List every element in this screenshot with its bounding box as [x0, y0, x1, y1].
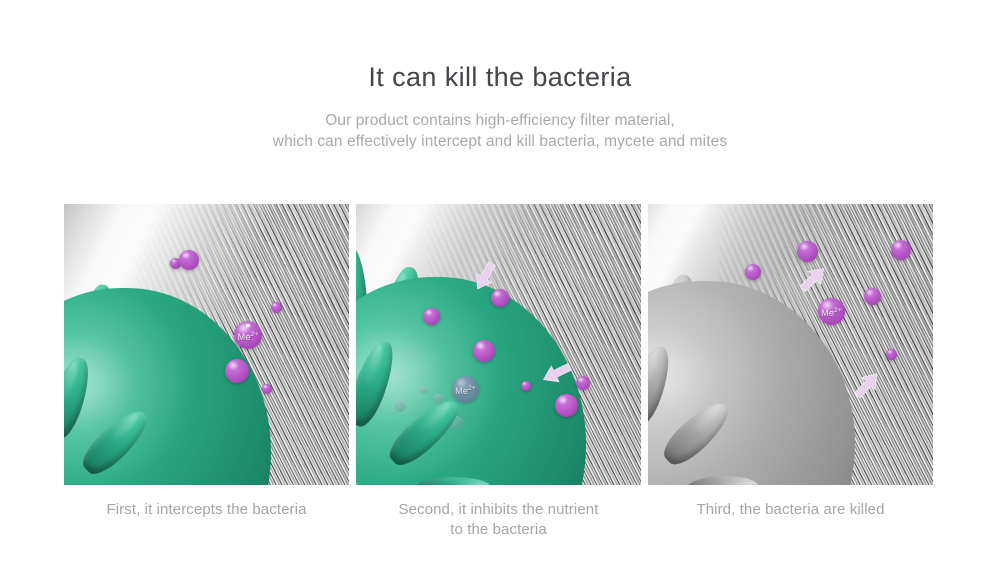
caption-inhibit: Second, it inhibits the nutrient to the …: [356, 500, 641, 560]
metal-ion-sphere: [864, 288, 881, 305]
metal-ion-sphere: [576, 376, 590, 390]
metal-ion-sphere: [262, 384, 272, 394]
metal-ion-sphere-absorbed: Me2+: [452, 376, 479, 403]
metal-ion-sphere: [886, 349, 897, 360]
caption-killed: Third, the bacteria are killed: [648, 500, 933, 560]
page-title: It can kill the bacteria: [0, 0, 1000, 93]
flow-arrow-outward: [850, 368, 884, 402]
flow-arrow-inward: [468, 259, 502, 293]
metal-ion-sphere: [521, 381, 531, 391]
caption-line-1: Third, the bacteria are killed: [648, 500, 933, 520]
metal-ion-sphere: [423, 308, 440, 325]
bacteria-organism-dead: [648, 221, 876, 485]
panel-intercept: Me2+: [64, 204, 349, 485]
panel-killed: Me2+: [648, 204, 933, 485]
header-block: It can kill the bacteria Our product con…: [0, 0, 1000, 153]
subtitle-line-1: Our product contains high-efficiency fil…: [0, 111, 1000, 132]
scene-killed: Me2+: [648, 204, 933, 485]
page-subtitle: Our product contains high-efficiency fil…: [0, 93, 1000, 153]
metal-ion-sphere-labeled: Me2+: [818, 298, 845, 325]
scene-inhibit: Me2+: [356, 204, 641, 485]
flow-arrow-outward: [796, 262, 830, 296]
metal-ion-sphere: [225, 359, 249, 383]
panel-inhibit: Me2+: [356, 204, 641, 485]
metal-ion-sphere: [891, 240, 911, 260]
caption-line-1: Second, it inhibits the nutrient: [356, 500, 641, 520]
caption-row: First, it intercepts the bacteria Second…: [64, 500, 934, 560]
scene-intercept: Me2+: [64, 204, 349, 485]
ion-label: Me2+: [821, 307, 842, 318]
metal-ion-sphere: [271, 302, 282, 313]
caption-line-1: First, it intercepts the bacteria: [64, 500, 349, 520]
subtitle-line-2: which can effectively intercept and kill…: [0, 132, 1000, 153]
ion-label: Me2+: [238, 331, 259, 342]
ion-label: Me2+: [455, 385, 476, 396]
metal-ion-sphere-labeled: Me2+: [234, 321, 262, 349]
flow-arrow-inward: [540, 356, 574, 390]
metal-ion-sphere: [797, 241, 818, 262]
caption-line-2: to the bacteria: [356, 520, 641, 540]
metal-ion-sphere: [745, 264, 761, 280]
caption-intercept: First, it intercepts the bacteria: [64, 500, 349, 560]
panel-row: Me2+: [64, 204, 934, 485]
ion-specular-dot: [246, 324, 250, 328]
bacteria-vacuole: [420, 386, 428, 394]
metal-ion-sphere: [555, 394, 578, 417]
metal-ion-sphere: [473, 340, 495, 362]
slide-root: It can kill the bacteria Our product con…: [0, 0, 1000, 576]
bacteria-vacuole: [394, 400, 406, 412]
metal-ion-sphere: [179, 250, 199, 270]
